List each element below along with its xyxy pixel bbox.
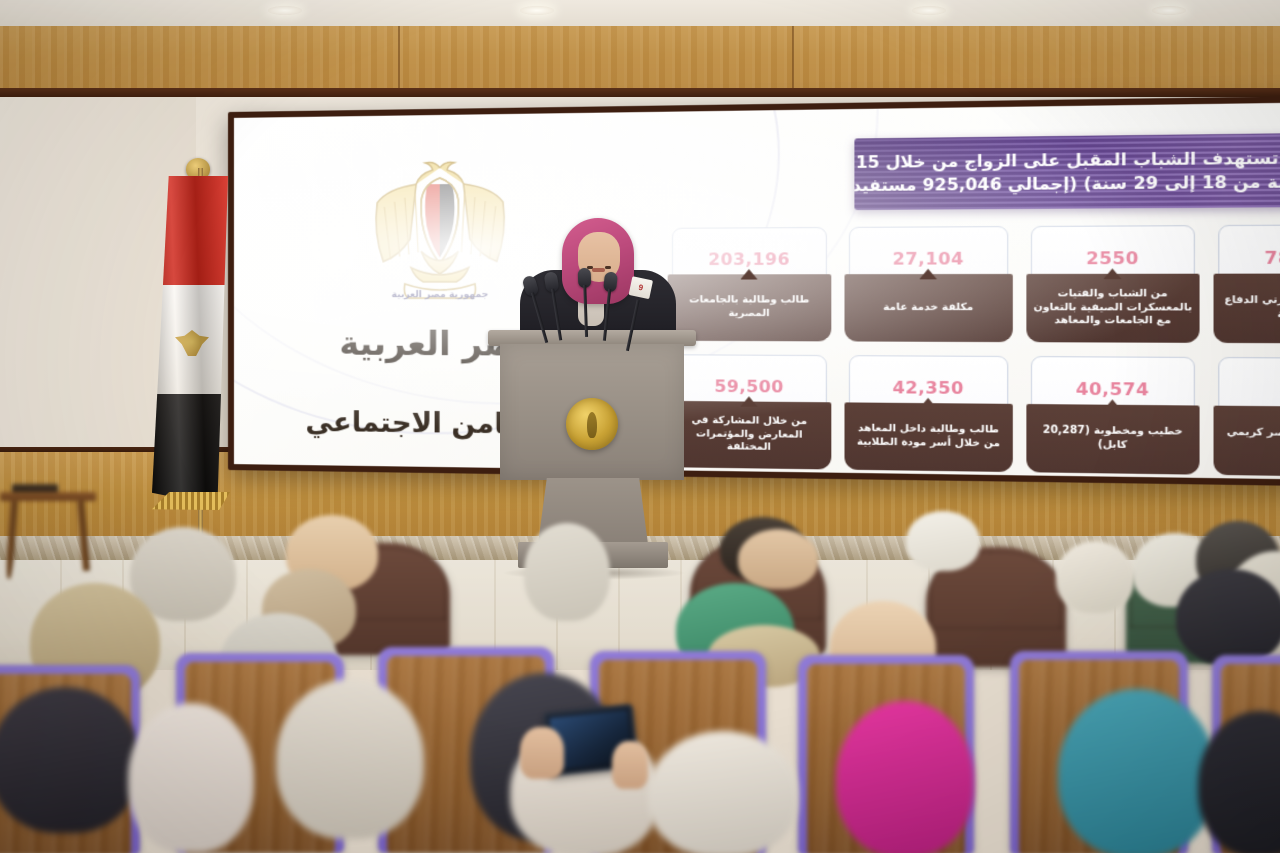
upper-wood-paneling — [0, 26, 1280, 92]
stat-card-number: 59,500 — [714, 376, 784, 396]
projection-screen: جمهورية مصر العربية هورية مصر العربية وز… — [234, 101, 1280, 480]
banner-line-2: تدريب عمرية من 18 إلى 29 سنة) (إجمالي 92… — [865, 169, 1280, 197]
audience-head-hijab — [128, 703, 254, 853]
stat-card: 408 شاب وفتاة من مصر كريمي الن — [1214, 357, 1280, 481]
egypt-eagle-emblem: جمهورية مصر العربية — [353, 153, 528, 322]
audience-head — [738, 529, 818, 589]
podium-front-panel — [500, 344, 684, 480]
ceiling-light — [912, 6, 946, 15]
hand — [612, 741, 648, 789]
stat-card: 27,104 مكلفة خدمة عامة — [844, 226, 1012, 345]
audience-head-hijab — [906, 511, 980, 571]
slide-card-grid: 78,273 من المجندين بوزارتي الدفاع والداخ… — [668, 224, 1280, 480]
ceiling-light — [1152, 6, 1186, 15]
stat-card-number: 27,104 — [892, 248, 964, 268]
banner-line-1: ات مباشرة تستهدف الشباب المقبل على الزوا… — [865, 145, 1280, 174]
audience-head — [1176, 569, 1280, 665]
ceiling-light — [268, 6, 302, 15]
stat-card-number: 203,196 — [708, 249, 790, 269]
stat-card: 78,273 من المجندين بوزارتي الدفاع والداخ… — [1214, 224, 1280, 347]
emblem-scroll-text: جمهورية مصر العربية — [392, 290, 489, 300]
audience-area — [0, 505, 1280, 853]
stat-card-label: من المجندين بوزارتي الدفاع والداخلية — [1214, 273, 1280, 343]
stat-card-number: 40,574 — [1076, 378, 1150, 399]
audience-shoulder — [648, 731, 798, 853]
microphone-flag-label: 9 — [629, 276, 653, 299]
stat-card-number: 78,273 — [1264, 247, 1280, 268]
stat-card: 42,350 طالب وطالبة داخل المعاهد من خلال … — [844, 355, 1012, 475]
banner-line-2-main: عمرية من 18 إلى 29 سنة) (إجمالي 925,046 … — [854, 172, 1280, 195]
wood-panel-seam — [792, 26, 794, 92]
table-top — [0, 492, 96, 501]
stat-card: 40,574 خطيب ومخطوبة (20,287 كابل) — [1026, 356, 1199, 478]
speaker-eye — [605, 266, 611, 269]
stat-card-label: طالب وطالبة داخل المعاهد من خلال أسر مود… — [844, 402, 1012, 472]
stat-card-label: مكلفة خدمة عامة — [844, 274, 1012, 342]
audience-head — [0, 687, 140, 833]
hand — [520, 727, 564, 779]
microphone — [603, 271, 618, 292]
audience-head-hijab — [1058, 689, 1216, 853]
stat-card-label: شاب وفتاة من مصر كريمي الن — [1214, 406, 1280, 478]
microphone — [578, 268, 592, 288]
stat-card: 203,196 طالب وطالبة بالجامعات المصرية — [668, 227, 832, 345]
wood-panel-seam — [398, 26, 400, 92]
wood-trim — [0, 88, 1280, 97]
ceiling-light — [520, 6, 554, 15]
stat-card-number: 42,350 — [892, 377, 964, 398]
audience-head-hijab — [276, 679, 424, 839]
stat-card-label: من خلال المشاركة في المعارض والمؤتمرات ا… — [668, 401, 832, 470]
projection-screen-frame: جمهورية مصر العربية هورية مصر العربية وز… — [228, 95, 1280, 487]
speaker-mouth — [592, 268, 605, 272]
audience-head-hijab — [836, 701, 974, 853]
stat-card-label: خطيب ومخطوبة (20,287 كابل) — [1026, 404, 1199, 475]
stat-card: 59,500 من خلال المشاركة في المعارض والمؤ… — [668, 354, 832, 472]
stat-card-label: من الشباب والفتيات بالمعسكرات الصيفية با… — [1026, 274, 1199, 343]
stat-card-number: 2550 — [1086, 247, 1139, 268]
podium-gold-emblem-icon — [566, 398, 618, 450]
press-conference-photo: جمهورية مصر العربية هورية مصر العربية وز… — [0, 0, 1280, 853]
audience-head — [1198, 711, 1280, 853]
audience-head-hijab — [524, 523, 610, 621]
audience-head-hijab — [1056, 541, 1134, 613]
stat-card: 2550 من الشباب والفتيات بالمعسكرات الصيف… — [1026, 225, 1199, 346]
slide-banner: ات مباشرة تستهدف الشباب المقبل على الزوا… — [854, 132, 1280, 210]
